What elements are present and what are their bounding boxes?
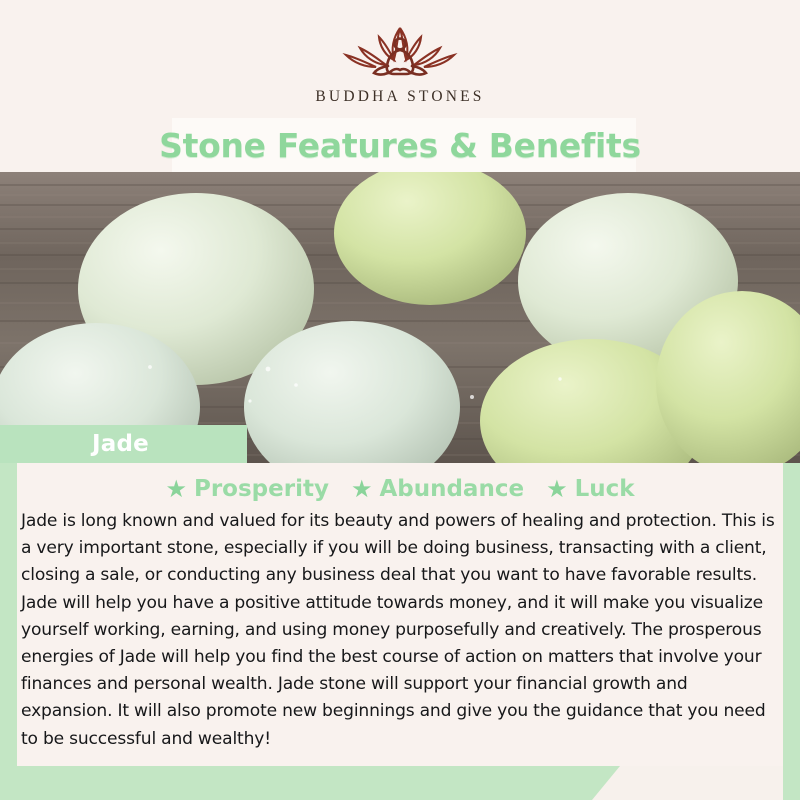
- brand-name: BUDDHA STONES: [315, 88, 484, 106]
- benefits-list: ★ Prosperity ★ Abundance ★ Luck: [17, 463, 783, 505]
- stone-name-banner: Jade: [0, 425, 247, 463]
- benefit-label: Luck: [575, 476, 635, 502]
- star-icon: ★: [351, 477, 373, 501]
- benefit-item: ★ Abundance: [351, 476, 524, 502]
- stone-description: Jade is long known and valued for its be…: [17, 508, 783, 753]
- stone-name: Jade: [92, 431, 149, 457]
- star-icon: ★: [546, 477, 568, 501]
- benefit-label: Prosperity: [194, 476, 329, 502]
- page-title: Stone Features & Benefits: [0, 118, 800, 172]
- benefit-label: Abundance: [379, 476, 524, 502]
- star-icon: ★: [165, 477, 187, 501]
- frame-bottom-accent: [0, 766, 620, 800]
- brand-header: BUDDHA STONES: [0, 0, 800, 118]
- benefit-item: ★ Luck: [546, 476, 634, 502]
- lotus-meditation-icon: [334, 22, 466, 84]
- stone-infographic: BUDDHA STONES Stone Features & Benefits: [0, 0, 800, 800]
- content-panel: ★ Prosperity ★ Abundance ★ Luck Jade is …: [17, 463, 783, 766]
- benefit-item: ★ Prosperity: [165, 476, 328, 502]
- stone-photo: [0, 171, 800, 463]
